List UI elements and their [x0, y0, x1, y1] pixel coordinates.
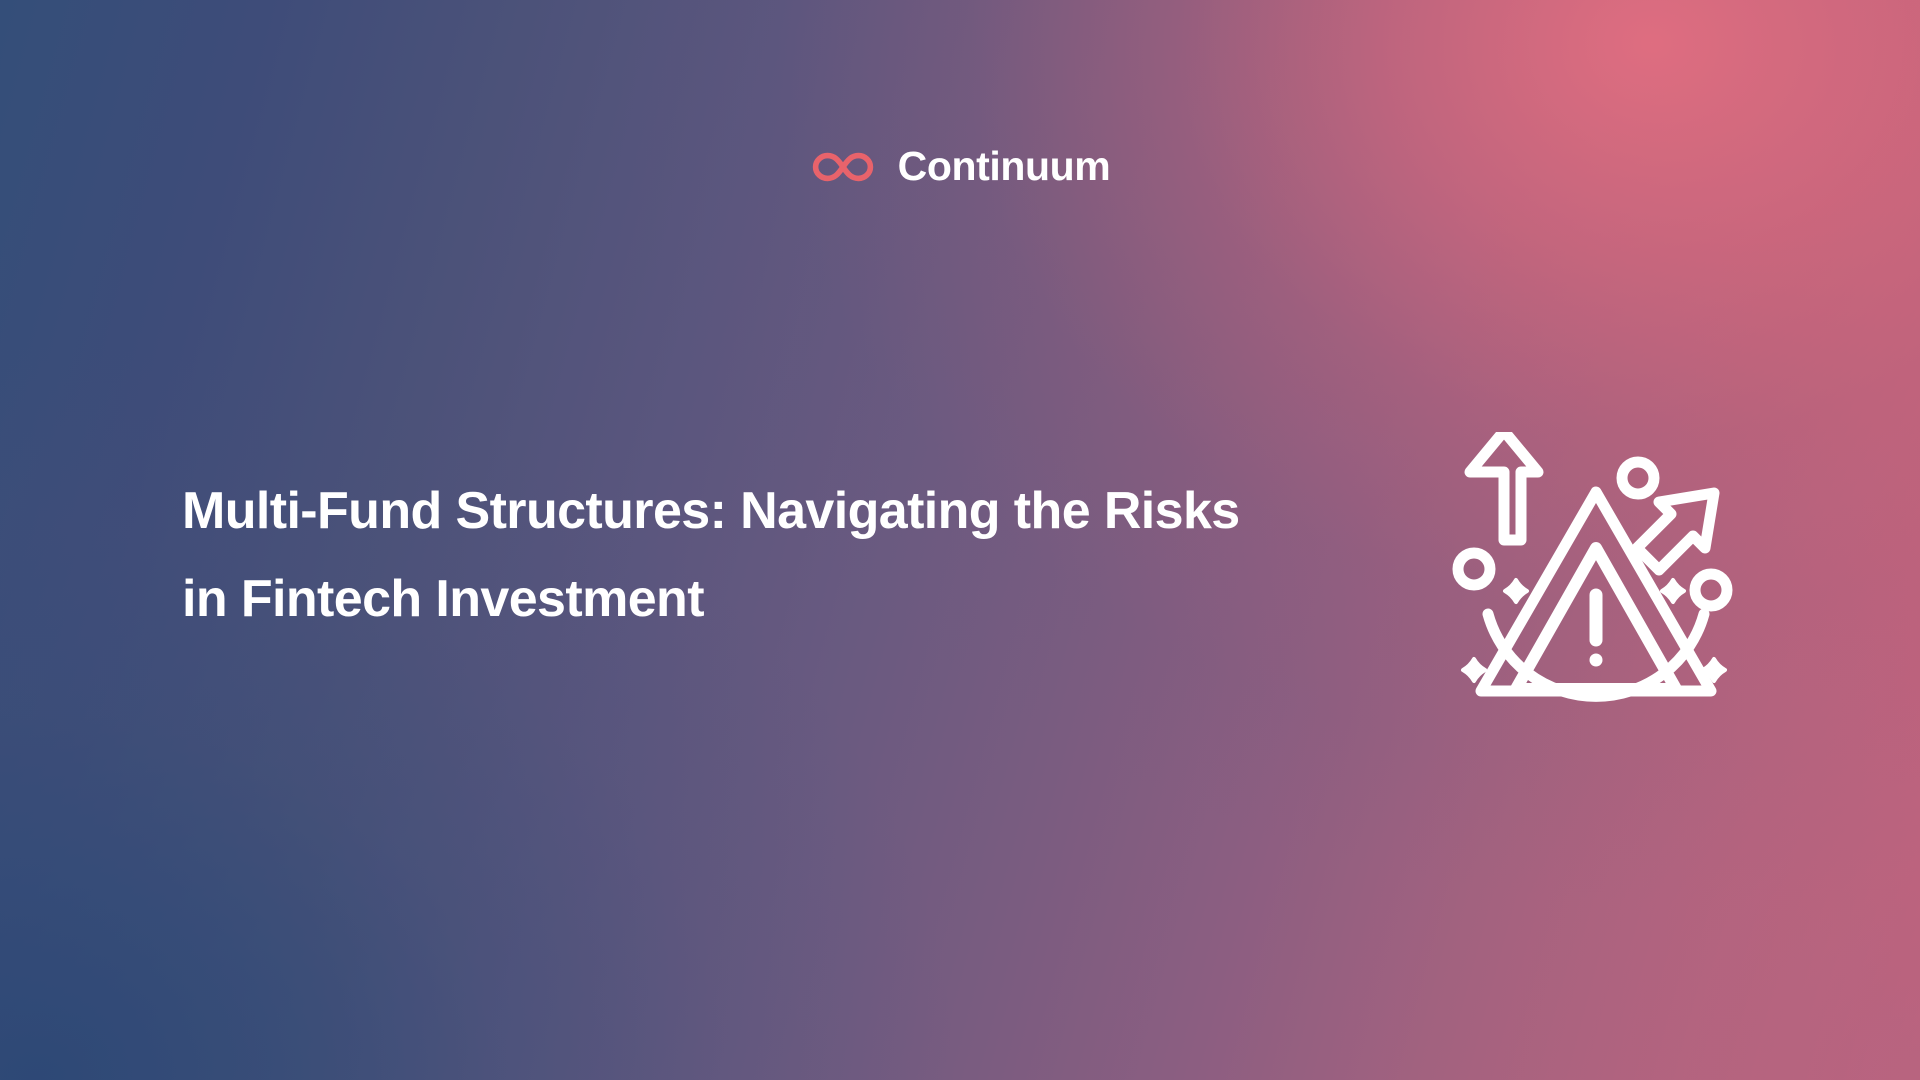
infinity-icon — [810, 150, 876, 184]
brand-logo: Continuum — [0, 146, 1920, 187]
diamond-sparkle-icon — [1463, 659, 1485, 681]
diamond-sparkle-icon — [1662, 580, 1684, 602]
circle-outline-icon — [1695, 574, 1727, 606]
page-title: Multi-Fund Structures: Navigating the Ri… — [182, 467, 1272, 643]
diagonal-arrow-icon — [1637, 493, 1714, 570]
exclamation-dot-icon — [1590, 654, 1603, 667]
circle-outline-icon — [1458, 553, 1490, 585]
risk-warning-illustration — [1448, 432, 1744, 728]
circle-outline-icon — [1622, 462, 1654, 494]
article-hero-card: Continuum Multi-Fund Structures: Navigat… — [0, 0, 1920, 1080]
up-arrow-icon — [1470, 432, 1538, 540]
diamond-sparkle-icon — [1505, 580, 1527, 602]
brand-name: Continuum — [898, 146, 1111, 187]
